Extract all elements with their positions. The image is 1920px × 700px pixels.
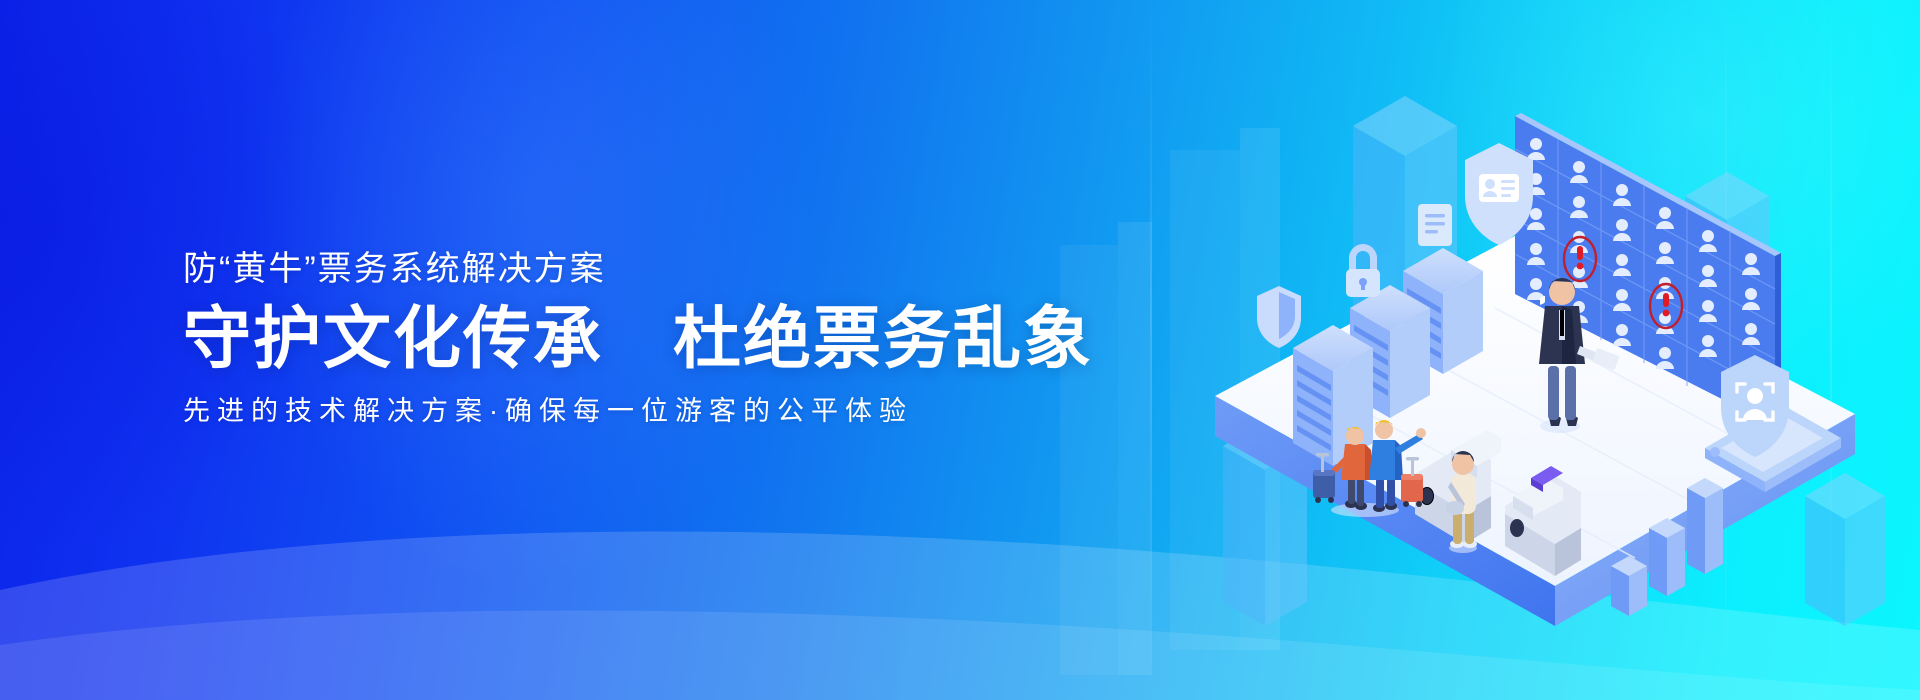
page-title: 守护文化传承 杜绝票务乱象 (183, 305, 1083, 373)
hero-copy: 防“黄牛”票务系统解决方案 守护文化传承 杜绝票务乱象 先进的技术解决方案·确保… (183, 252, 1083, 425)
subtitle-text: 先进的技术解决方案·确保每一位游客的公平体验 (183, 398, 1083, 425)
hero-illustration (1215, 96, 1920, 626)
eyebrow-text: 防“黄牛”票务系统解决方案 (183, 252, 1083, 286)
background-tower-far-right (1805, 473, 1885, 626)
document-icon (1418, 204, 1452, 246)
hero-banner: 防“黄牛”票务系统解决方案 守护文化传承 杜绝票务乱象 先进的技术解决方案·确保… (0, 0, 1920, 700)
security-shield-icon (1257, 286, 1301, 348)
